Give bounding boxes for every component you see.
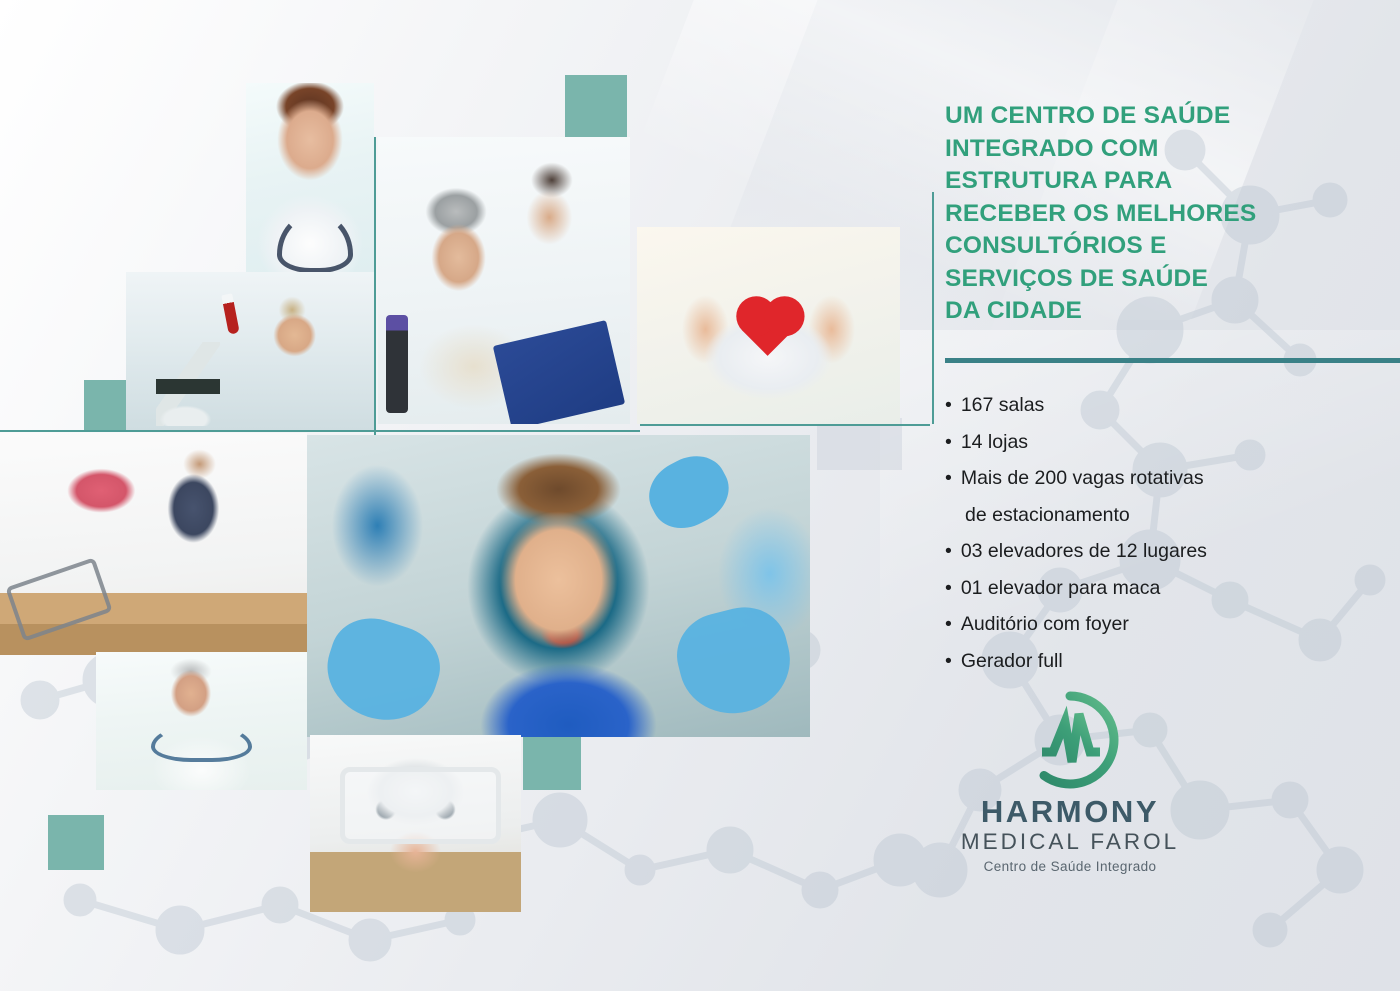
- headline-line: INTEGRADO COM: [945, 135, 1159, 162]
- photo-dentist-child: [307, 435, 810, 737]
- headline-line: DA CIDADE: [945, 297, 1082, 324]
- photo-optometry: [310, 735, 521, 912]
- list-item-continuation: de estacionamento: [945, 497, 1365, 534]
- list-item: • 14 lojas: [945, 424, 1365, 461]
- list-item-label: Mais de 200 vagas rotativas: [961, 460, 1204, 497]
- brand-logo: HARMONY MEDICAL FAROL Centro de Saúde In…: [945, 690, 1195, 873]
- photo-senior-doctor: [96, 652, 307, 790]
- content-panel: UM CENTRO DE SAÚDE INTEGRADO COM ESTRUTU…: [945, 100, 1365, 328]
- list-item-label: de estacionamento: [965, 497, 1130, 534]
- list-item: • Auditório com foyer: [945, 606, 1365, 643]
- list-item: • 03 elevadores de 12 lugares: [945, 533, 1365, 570]
- headline-line: CONSULTÓRIOS E: [945, 232, 1167, 259]
- bullet-icon: •: [945, 533, 952, 570]
- bullet-icon: •: [945, 606, 952, 643]
- glove-right-icon: [668, 598, 800, 724]
- logo-subtitle: MEDICAL FAROL: [945, 831, 1195, 854]
- collage-rule-horizontal-2: [640, 424, 930, 426]
- headline-line: ESTRUTURA PARA: [945, 167, 1172, 194]
- bullet-icon: •: [945, 460, 952, 497]
- list-item-label: 167 salas: [961, 387, 1044, 424]
- glove-left-icon: [315, 608, 450, 734]
- headline-line: RECEBER OS MELHORES: [945, 200, 1256, 227]
- headline-line: UM CENTRO DE SAÚDE: [945, 102, 1230, 129]
- list-item-label: Auditório com foyer: [961, 606, 1129, 643]
- bullet-icon: •: [945, 424, 952, 461]
- logo-name: HARMONY: [945, 796, 1195, 827]
- photo-physiotherapy: [0, 433, 307, 655]
- logo-tagline: Centro de Saúde Integrado: [945, 860, 1195, 874]
- feature-list: • 167 salas • 14 lojas • Mais de 200 vag…: [945, 387, 1365, 679]
- bullet-icon: •: [945, 570, 952, 607]
- page-title: UM CENTRO DE SAÚDE INTEGRADO COM ESTRUTU…: [945, 100, 1285, 328]
- photo-doctor-woman: [246, 83, 374, 279]
- photo-lab-scientist: [126, 272, 374, 430]
- list-item-label: 01 elevador para maca: [961, 570, 1160, 607]
- bullet-icon: •: [945, 643, 952, 680]
- list-item: • Mais de 200 vagas rotativas: [945, 460, 1365, 497]
- list-item-label: Gerador full: [961, 643, 1063, 680]
- accent-square-top: [565, 75, 627, 137]
- list-item: • 01 elevador para maca: [945, 570, 1365, 607]
- heart-icon: [742, 303, 796, 357]
- collage-rule-horizontal: [0, 430, 640, 432]
- list-item: • 167 salas: [945, 387, 1365, 424]
- list-item: • Gerador full: [945, 643, 1365, 680]
- photo-heart-in-hands: [637, 227, 900, 424]
- list-item-label: 03 elevadores de 12 lugares: [961, 533, 1207, 570]
- accent-square-bottom: [48, 815, 104, 870]
- accent-square-center: [523, 734, 581, 790]
- list-item-label: 14 lojas: [961, 424, 1028, 461]
- photo-elderly-patient: [378, 137, 630, 424]
- headline-line: SERVIÇOS DE SAÚDE: [945, 265, 1208, 292]
- collage-rule-vertical-right: [932, 192, 934, 424]
- headline-divider: [945, 358, 1400, 363]
- glove-top-icon: [638, 444, 740, 540]
- circle-heartbeat-monogram-icon: [1020, 690, 1120, 790]
- bullet-icon: •: [945, 387, 952, 424]
